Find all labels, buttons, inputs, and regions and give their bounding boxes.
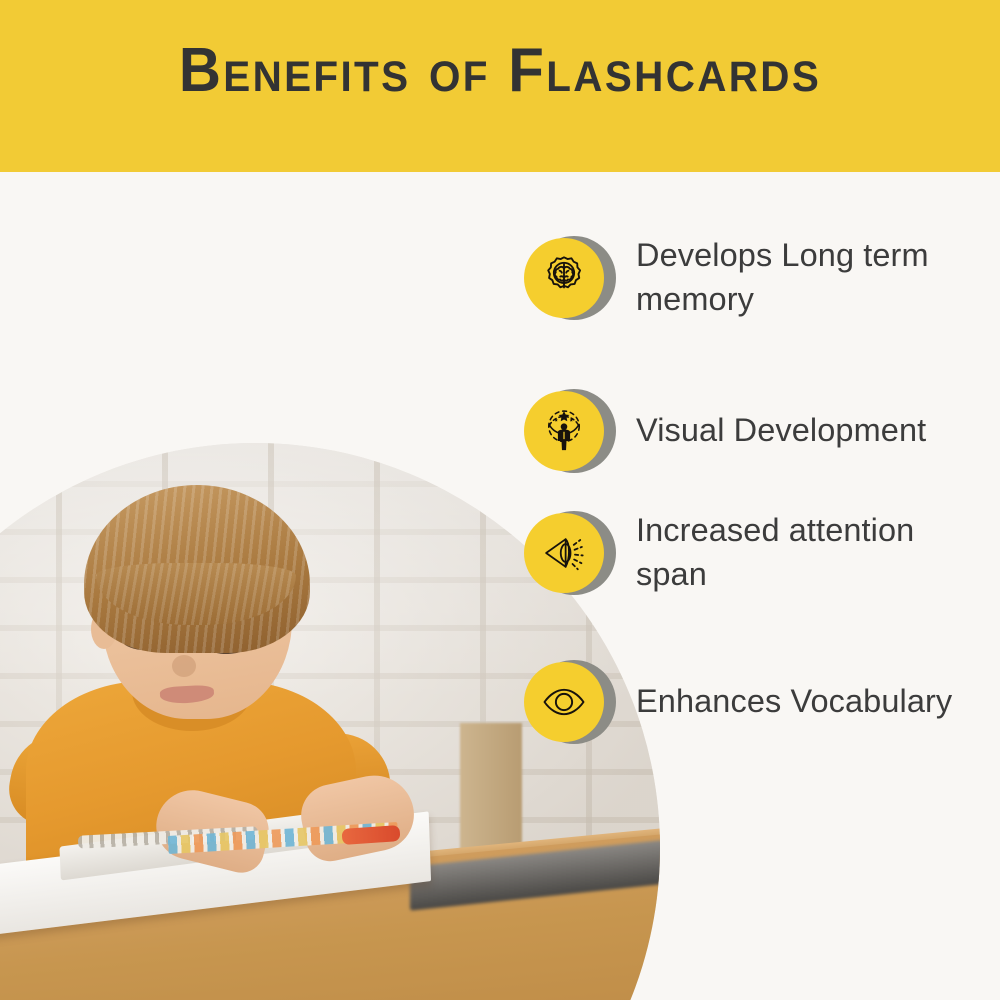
child-nose bbox=[172, 655, 196, 677]
list-item[interactable]: Increased attention span bbox=[524, 507, 992, 599]
badge-disc bbox=[524, 238, 604, 318]
list-item[interactable]: Visual Development bbox=[524, 385, 926, 477]
person-star-icon bbox=[539, 406, 589, 456]
badge-disc bbox=[524, 391, 604, 471]
infographic-poster: Benefits of Flashcards bbox=[0, 0, 1000, 1000]
badge-disc bbox=[524, 662, 604, 742]
eye-icon bbox=[538, 676, 590, 728]
benefit-label: Visual Development bbox=[636, 409, 926, 453]
brain-gear-icon bbox=[539, 253, 589, 303]
badge-disc bbox=[524, 513, 604, 593]
benefit-badge bbox=[524, 656, 616, 748]
page-title: Benefits of Flashcards bbox=[30, 38, 970, 103]
list-item[interactable]: Enhances Vocabulary bbox=[524, 656, 952, 748]
header-band: Benefits of Flashcards bbox=[0, 0, 1000, 172]
benefit-label: Increased attention span bbox=[636, 509, 992, 596]
list-item[interactable]: Develops Long term memory bbox=[524, 232, 992, 324]
benefit-badge bbox=[524, 385, 616, 477]
benefit-label: Enhances Vocabulary bbox=[636, 680, 952, 724]
benefit-badge bbox=[524, 507, 616, 599]
benefit-badge bbox=[524, 232, 616, 324]
eye-rays-icon bbox=[538, 527, 590, 579]
benefit-label: Develops Long term memory bbox=[636, 234, 992, 321]
